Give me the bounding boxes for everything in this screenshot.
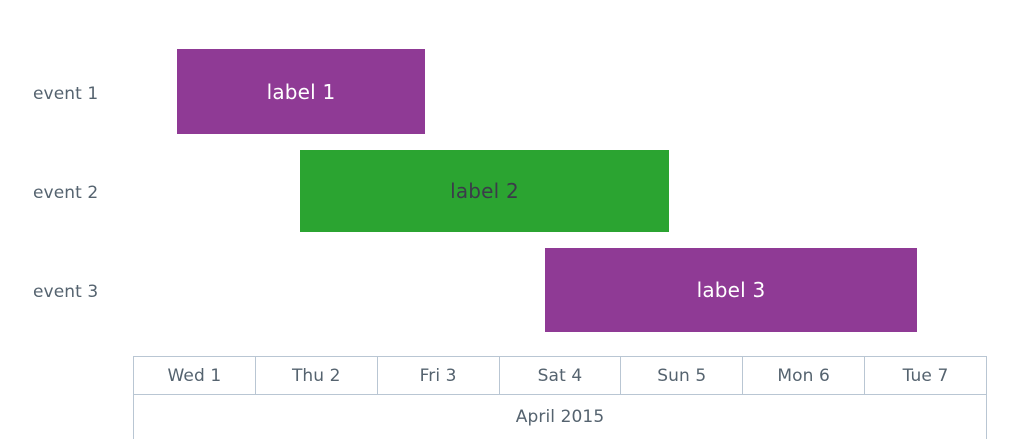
- time-axis-month-row: April 2015: [134, 395, 987, 439]
- task-bar-label-event-2: label 2: [450, 181, 519, 201]
- time-axis-day-cell-6[interactable]: Mon 6: [743, 357, 865, 395]
- row-label-event-1: event 1: [33, 86, 153, 103]
- gantt-chart: event 1 event 2 event 3 label 1 label 2 …: [0, 0, 1026, 438]
- task-bar-label-event-3: label 3: [697, 280, 766, 300]
- time-axis-day-cell-3[interactable]: Fri 3: [377, 357, 499, 395]
- time-axis-day-cell-7[interactable]: Tue 7: [865, 357, 987, 395]
- row-label-event-3: event 3: [33, 284, 153, 301]
- time-axis-day-row: Wed 1 Thu 2 Fri 3 Sat 4 Sun 5 Mon 6 Tue …: [134, 357, 987, 395]
- time-axis-month-cell[interactable]: April 2015: [134, 395, 987, 439]
- task-bar-label-event-1: label 1: [267, 82, 336, 102]
- time-axis-day-cell-5[interactable]: Sun 5: [621, 357, 743, 395]
- task-bar-event-1[interactable]: label 1: [177, 49, 425, 134]
- row-label-event-2: event 2: [33, 185, 153, 202]
- task-bar-event-2[interactable]: label 2: [300, 150, 669, 232]
- task-bar-event-3[interactable]: label 3: [545, 248, 917, 332]
- time-axis-day-cell-2[interactable]: Thu 2: [255, 357, 377, 395]
- time-axis-day-cell-4[interactable]: Sat 4: [499, 357, 621, 395]
- time-axis-day-cell-1[interactable]: Wed 1: [134, 357, 256, 395]
- time-axis: Wed 1 Thu 2 Fri 3 Sat 4 Sun 5 Mon 6 Tue …: [133, 356, 987, 439]
